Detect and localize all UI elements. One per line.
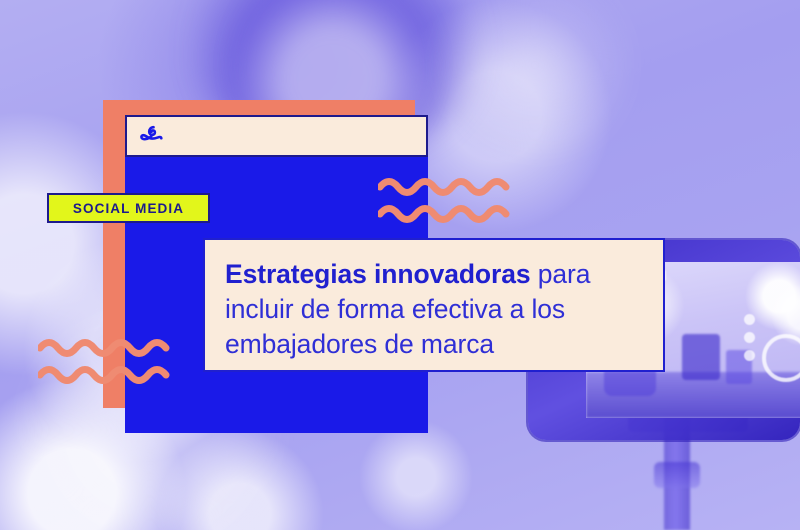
screen-dot-three: [744, 350, 755, 361]
wavy-lines-icon-right: [378, 172, 530, 228]
category-badge[interactable]: SOCIAL MEDIA: [47, 193, 210, 223]
title-lead: Estrategias innovadoras: [225, 259, 531, 289]
background-light-bloom-top: [420, 0, 650, 160]
tripod-knob: [654, 462, 700, 488]
title-card: Estrategias innovadoras para incluir de …: [203, 238, 665, 372]
page-title: Estrategias innovadoras para incluir de …: [225, 257, 643, 362]
signature-flourish-icon: [138, 124, 168, 148]
screen-object-left: [682, 334, 720, 380]
brand-card-header: [125, 115, 428, 157]
category-badge-label: SOCIAL MEDIA: [73, 201, 184, 216]
screen-dot-two: [744, 332, 755, 343]
cover-canvas: SOCIAL MEDIA Estrategias innovadoras par…: [0, 0, 800, 530]
wavy-lines-icon-left: [38, 333, 190, 389]
screen-dot-one: [744, 314, 755, 325]
